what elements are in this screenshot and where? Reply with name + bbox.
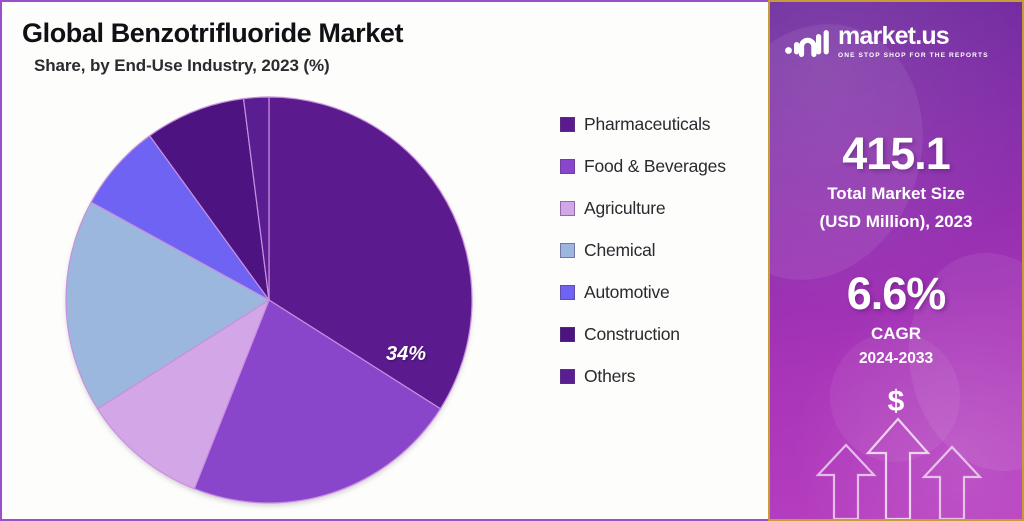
legend-item-label: Agriculture	[584, 198, 665, 219]
growth-arrows-icon	[770, 389, 1024, 519]
legend-item-label: Others	[584, 366, 635, 387]
legend-item-label: Construction	[584, 324, 680, 345]
chart-panel: Global Benzotrifluoride Market Share, by…	[0, 0, 768, 521]
cagr-value: 6.6%	[770, 270, 1022, 317]
market-us-logo-icon	[784, 25, 830, 59]
legend-swatch-icon	[560, 201, 575, 216]
legend-item-label: Automotive	[584, 282, 670, 303]
brand-logo: market.us ONE STOP SHOP FOR THE REPORTS	[784, 24, 989, 59]
cagr-stat: 6.6% CAGR 2024-2033	[770, 270, 1022, 369]
market-size-caption-line1: Total Market Size	[770, 183, 1022, 204]
page-subtitle: Share, by End-Use Industry, 2023 (%)	[34, 56, 403, 76]
pie-slice-label-pharmaceuticals: 34%	[386, 343, 426, 366]
legend-swatch-icon	[560, 369, 575, 384]
legend-swatch-icon	[560, 243, 575, 258]
cagr-caption: CAGR	[770, 323, 1022, 344]
legend-item[interactable]: Others	[560, 366, 726, 387]
legend-item-label: Chemical	[584, 240, 655, 261]
chart-heading-group: Global Benzotrifluoride Market Share, by…	[22, 18, 403, 76]
legend-swatch-icon	[560, 117, 575, 132]
pie-chart-svg	[64, 95, 474, 505]
pie-chart: 34%	[64, 95, 474, 505]
brand-text-group: market.us ONE STOP SHOP FOR THE REPORTS	[838, 24, 989, 59]
brand-name: market.us	[838, 24, 989, 49]
legend-item[interactable]: Agriculture	[560, 198, 726, 219]
legend-item[interactable]: Construction	[560, 324, 726, 345]
legend-item[interactable]: Chemical	[560, 240, 726, 261]
market-size-value: 415.1	[770, 130, 1022, 177]
market-infographic: Global Benzotrifluoride Market Share, by…	[0, 0, 1024, 521]
legend-swatch-icon	[560, 159, 575, 174]
market-size-caption-line2: (USD Million), 2023	[770, 211, 1022, 232]
market-size-stat: 415.1 Total Market Size (USD Million), 2…	[770, 130, 1022, 232]
stats-panel: market.us ONE STOP SHOP FOR THE REPORTS …	[768, 0, 1024, 521]
legend-item[interactable]: Pharmaceuticals	[560, 114, 726, 135]
legend-item[interactable]: Food & Beverages	[560, 156, 726, 177]
chart-legend: PharmaceuticalsFood & BeveragesAgricultu…	[560, 114, 726, 387]
legend-item-label: Pharmaceuticals	[584, 114, 710, 135]
page-title: Global Benzotrifluoride Market	[22, 18, 403, 49]
legend-item[interactable]: Automotive	[560, 282, 726, 303]
cagr-period: 2024-2033	[770, 349, 1022, 369]
legend-item-label: Food & Beverages	[584, 156, 726, 177]
brand-tagline: ONE STOP SHOP FOR THE REPORTS	[838, 52, 989, 59]
legend-swatch-icon	[560, 327, 575, 342]
legend-swatch-icon	[560, 285, 575, 300]
